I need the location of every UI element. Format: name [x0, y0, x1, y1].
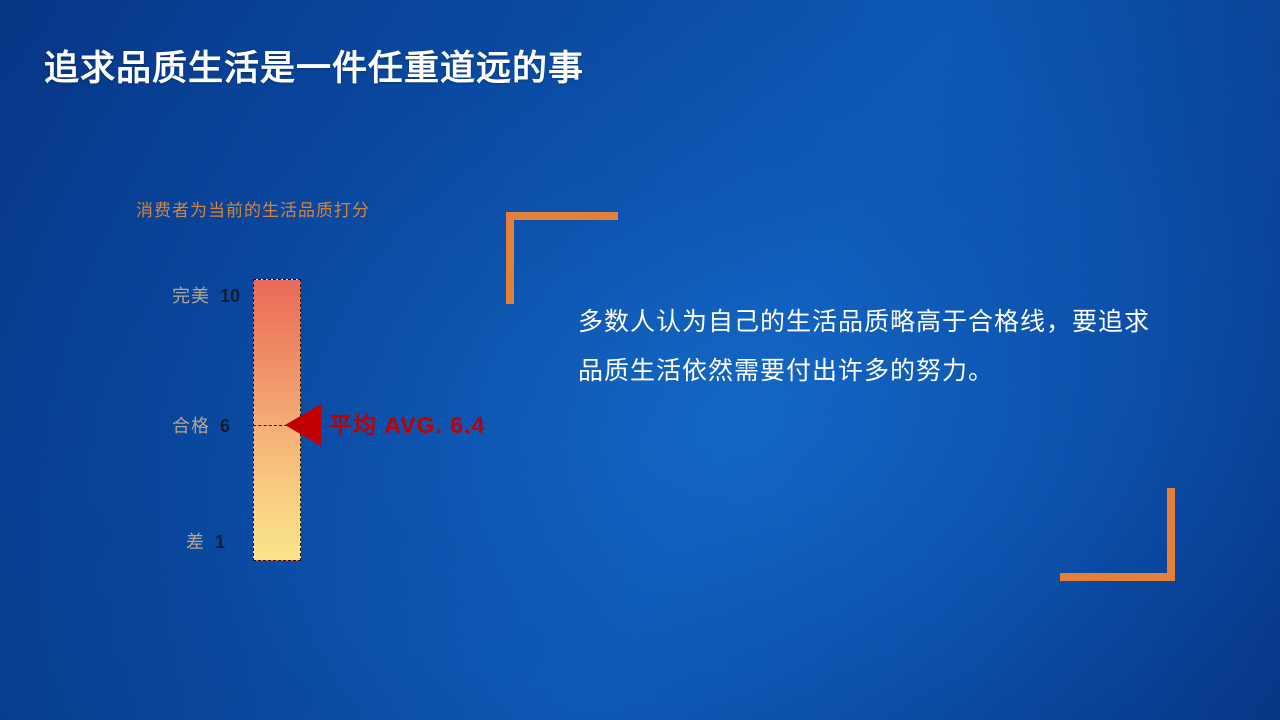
scale-tick-perfect: 完美 10 — [172, 282, 240, 308]
scale-tick-pass: 合格 6 — [172, 412, 230, 438]
average-value-label: 平均 AVG. 6.4 — [329, 406, 485, 440]
scale-tick-perfect-label: 完美 — [172, 282, 210, 308]
bracket-arm-vertical — [506, 212, 514, 304]
corner-bracket-bottom-right — [1060, 488, 1175, 581]
chart-caption: 消费者为当前的生活品质打分 — [136, 196, 370, 221]
bracket-arm-horizontal — [1060, 573, 1175, 581]
bracket-arm-vertical — [1167, 488, 1175, 581]
scale-tick-poor: 差 1 — [186, 528, 225, 554]
scale-tick-poor-value: 1 — [215, 532, 225, 553]
scale-tick-pass-label: 合格 — [172, 412, 210, 438]
scale-tick-poor-label: 差 — [186, 528, 205, 554]
bracket-arm-horizontal — [506, 212, 618, 220]
body-paragraph: 多数人认为自己的生活品质略高于合格线，要追求品质生活依然需要付出许多的努力。 — [578, 298, 1158, 396]
average-pointer-triangle-icon — [285, 404, 321, 446]
corner-bracket-top-left — [506, 212, 618, 304]
page-title: 追求品质生活是一件任重道远的事 — [44, 40, 584, 91]
scale-tick-pass-value: 6 — [220, 416, 230, 437]
scale-tick-perfect-value: 10 — [220, 286, 240, 307]
slide-canvas: 追求品质生活是一件任重道远的事 消费者为当前的生活品质打分 完美 10 合格 6… — [0, 0, 1280, 720]
